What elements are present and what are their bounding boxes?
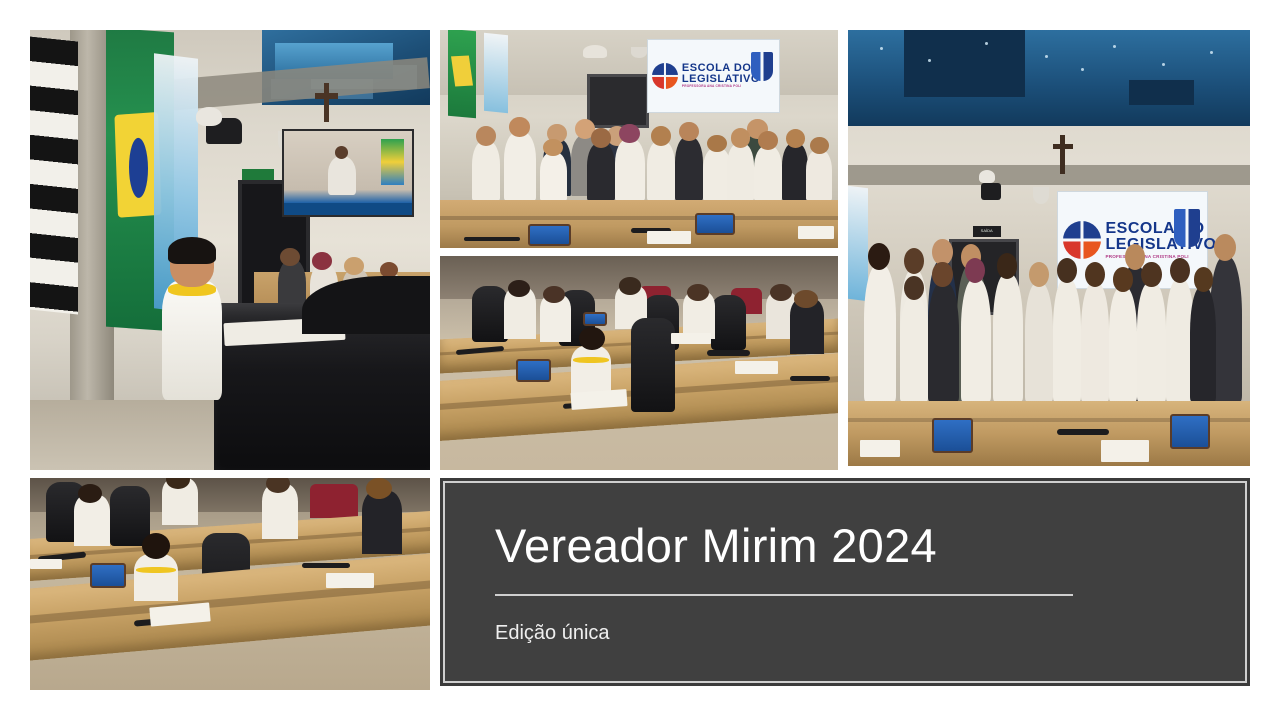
- logo-line-1: ESCOLA DO: [682, 63, 760, 74]
- person: [1214, 234, 1236, 261]
- desks-scene: [440, 256, 838, 470]
- paper-sheet: [30, 559, 62, 570]
- crucifix-crossbar: [315, 93, 338, 99]
- ceiling-light: [985, 42, 988, 45]
- logo-subtitle: PROFESSORA ANA CRISTINA POLI: [682, 85, 760, 88]
- ceiling-light: [1081, 68, 1084, 71]
- person: [504, 132, 536, 200]
- person: [647, 141, 675, 200]
- exit-sign: SAÍDA: [973, 226, 1001, 236]
- ceiling-panel: [904, 30, 1025, 97]
- person: [591, 128, 611, 148]
- person: [782, 143, 808, 200]
- wall-camera-icon: [981, 183, 1001, 200]
- person: [615, 139, 645, 200]
- page-subtitle: Edição única: [495, 622, 1207, 645]
- student: [900, 296, 928, 401]
- student: [864, 265, 896, 400]
- logo-line-2: LEGISLATIVO: [1106, 237, 1217, 253]
- person: [476, 126, 496, 146]
- speaker-hair: [168, 237, 216, 264]
- tablet-screen: [1170, 414, 1210, 449]
- flag-city: [848, 186, 868, 302]
- paper-sheet: [1101, 440, 1149, 462]
- chair: [631, 318, 675, 412]
- person: [707, 135, 727, 152]
- group-scene: ESCOLA DO LEGISLATIVO PROFESSORA ANA CRI…: [440, 30, 838, 248]
- person: [679, 122, 699, 142]
- tribune-scene: [30, 30, 430, 470]
- student: [1053, 279, 1081, 401]
- crucifix-icon: [1060, 135, 1064, 174]
- title-divider: [495, 594, 1073, 596]
- open-book-icon: [1174, 209, 1199, 247]
- escola-logo-mark: [1063, 221, 1101, 259]
- person: [619, 124, 640, 144]
- person: [806, 150, 832, 200]
- wall-camera-icon: [206, 118, 242, 144]
- wall-band: [848, 165, 1250, 185]
- wall-camera-icon: [583, 45, 607, 58]
- student: [579, 327, 605, 351]
- student: [1109, 287, 1137, 400]
- tablet-screen: [932, 418, 972, 453]
- student: [997, 253, 1017, 278]
- student: [1025, 283, 1053, 401]
- logo-line-2: LEGISLATIVO: [682, 74, 760, 85]
- person: [727, 143, 755, 200]
- microphone: [1057, 429, 1109, 436]
- logo-subtitle: PROFESSORA ANA CRISTINA POLI: [1106, 255, 1217, 260]
- flag-sao-paulo: [30, 36, 78, 314]
- student: [932, 262, 952, 287]
- person: [472, 141, 500, 200]
- student: [142, 533, 170, 558]
- ceiling-light: [1210, 51, 1213, 54]
- student-collar: [136, 567, 176, 573]
- student: [993, 274, 1023, 400]
- tv-flag: [381, 139, 404, 185]
- person: [587, 143, 615, 200]
- tablet-screen: [90, 563, 126, 588]
- person: [651, 126, 671, 146]
- paper-sheet: [860, 440, 900, 457]
- tv-speaker: [328, 156, 356, 194]
- flag-brazil: [448, 30, 476, 118]
- paper-sheet: [735, 361, 779, 374]
- student: [928, 283, 958, 401]
- photo-students-seated-at-desks[interactable]: [440, 256, 838, 470]
- page-title: Vereador Mirim 2024: [495, 521, 1207, 570]
- student: [366, 478, 392, 499]
- student: [1170, 258, 1190, 283]
- open-book-icon: [751, 52, 773, 80]
- student: [362, 491, 402, 555]
- student: [1137, 283, 1165, 401]
- person: [731, 128, 751, 148]
- tablet-screen: [528, 224, 572, 245]
- escola-logo-mark: [652, 63, 678, 89]
- tablet-screen: [516, 359, 552, 382]
- gallery-chair: [310, 484, 358, 518]
- student: [508, 280, 530, 297]
- student: [571, 346, 611, 393]
- photo-group-with-screen[interactable]: ESCOLA DO LEGISLATIVO PROFESSORA ANA CRI…: [440, 30, 838, 248]
- photo-group-plenary-wide[interactable]: SAÍDA ESCOLA DO LEGISLATIVO PROFESSORA A…: [848, 30, 1250, 466]
- paper-sheet: [798, 226, 834, 239]
- title-panel: Vereador Mirim 2024 Edição única: [440, 478, 1250, 686]
- person: [754, 146, 782, 201]
- desks-wide-scene: [30, 478, 430, 690]
- photo-students-at-desks-wide[interactable]: [30, 478, 430, 690]
- escola-do-legislativo-screen: ESCOLA DO LEGISLATIVO PROFESSORA ANA CRI…: [647, 39, 780, 113]
- student: [134, 554, 178, 601]
- student-collar: [573, 357, 609, 363]
- person: [786, 129, 805, 148]
- logo-line-1: ESCOLA DO: [1106, 221, 1217, 237]
- student: [868, 243, 890, 270]
- student: [687, 284, 709, 301]
- person: [509, 117, 530, 137]
- person: [540, 152, 568, 200]
- paper-sheet: [326, 573, 374, 588]
- seated-person: [344, 257, 364, 275]
- chair: [472, 286, 508, 342]
- student: [1081, 283, 1109, 401]
- paper-sheet: [671, 333, 711, 344]
- tablet-screen: [583, 312, 607, 327]
- slide-canvas: ESCOLA DO LEGISLATIVO PROFESSORA ANA CRI…: [0, 0, 1280, 720]
- student: [1190, 287, 1216, 400]
- speaker-body: [162, 281, 222, 400]
- flag-city: [484, 33, 508, 114]
- ceiling-panels: [848, 30, 1250, 126]
- microphone: [707, 350, 751, 355]
- tv-lower-third: [284, 203, 412, 215]
- student: [619, 277, 641, 294]
- photo-boy-speaking-at-tribune[interactable]: [30, 30, 430, 470]
- microphone: [302, 563, 350, 568]
- ceiling-light: [1113, 45, 1116, 48]
- student: [1029, 262, 1049, 287]
- person: [675, 137, 703, 200]
- student: [1194, 267, 1213, 291]
- paper-sheet: [647, 231, 691, 244]
- broadcast-tv-screen: [282, 129, 414, 217]
- ceiling-panel: [1129, 80, 1193, 105]
- crucifix-icon: [324, 83, 330, 123]
- student: [965, 258, 985, 283]
- ceiling-light: [1162, 63, 1165, 66]
- floor: [30, 400, 214, 470]
- chair: [711, 295, 747, 351]
- student: [1141, 262, 1161, 287]
- student: [1113, 267, 1133, 291]
- crucifix-crossbar: [1053, 144, 1073, 149]
- ceiling-light: [1045, 55, 1048, 58]
- group-big-scene: SAÍDA ESCOLA DO LEGISLATIVO PROFESSORA A…: [848, 30, 1250, 466]
- microphone: [464, 237, 520, 241]
- tablet-screen: [695, 213, 735, 234]
- student: [961, 279, 991, 401]
- student: [1057, 258, 1077, 283]
- microphone: [790, 376, 830, 381]
- ceiling-light: [880, 47, 883, 50]
- doorway: [587, 74, 649, 128]
- title-panel-inner: Vereador Mirim 2024 Edição única: [495, 521, 1207, 645]
- student: [770, 284, 792, 301]
